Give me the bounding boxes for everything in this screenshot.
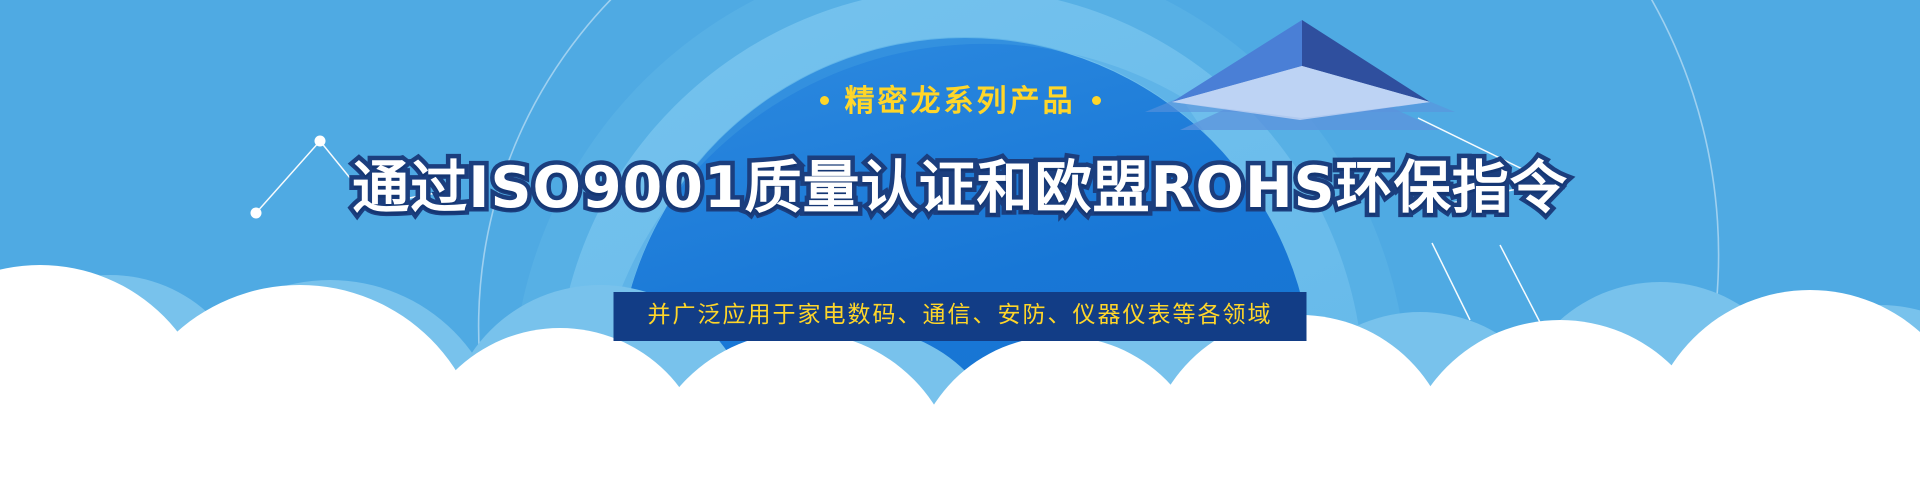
- cloud-band: [0, 0, 1920, 480]
- promo-banner: 精密龙系列产品 通过ISO9001质量认证和欧盟ROHS环保指令 并广泛应用于家…: [0, 0, 1920, 480]
- tagline-text: 并广泛应用于家电数码、通信、安防、仪器仪表等各领域: [648, 303, 1273, 328]
- headline-text: 通过ISO9001质量认证和欧盟ROHS环保指令: [0, 142, 1920, 224]
- bullet-dot-left-icon: [820, 96, 829, 105]
- eyebrow-text: 精密龙系列产品: [0, 76, 1920, 120]
- eyebrow-label: 精密龙系列产品: [845, 84, 1076, 119]
- tagline-bar: 并广泛应用于家电数码、通信、安防、仪器仪表等各领域: [614, 292, 1307, 341]
- bullet-dot-right-icon: [1092, 96, 1101, 105]
